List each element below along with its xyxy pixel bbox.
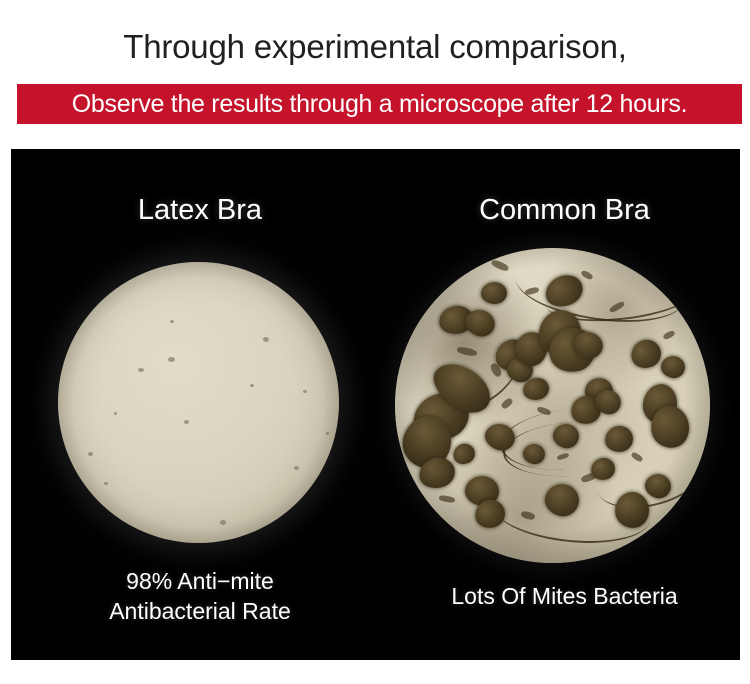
right-caption-line-1: Lots Of Mites Bacteria [389,581,740,611]
left-caption-line-1: 98% Anti−mite [11,566,389,596]
left-caption-line-2: Antibacterial Rate [11,596,389,626]
footer-strip [0,660,750,684]
left-sample-caption: 98% Anti−mite Antibacterial Rate [11,566,389,626]
right-sample-label: Common Bra [389,193,740,227]
page-title: Through experimental comparison, [0,27,750,67]
left-sample-label: Latex Bra [11,193,389,227]
microscope-view-common-bra [395,248,710,563]
right-sample-caption: Lots Of Mites Bacteria [389,581,740,611]
dirty-field-vignette [395,248,710,563]
callout-banner: Observe the results through a microscope… [17,84,742,124]
callout-banner-text: Observe the results through a microscope… [72,90,687,118]
microscope-view-latex-bra [58,262,339,543]
comparison-panel: Latex Bra Common Bra 98% Anti−mite Antib… [11,149,740,660]
clean-field-vignette [58,262,339,543]
page-root: Through experimental comparison, Observe… [0,0,750,684]
